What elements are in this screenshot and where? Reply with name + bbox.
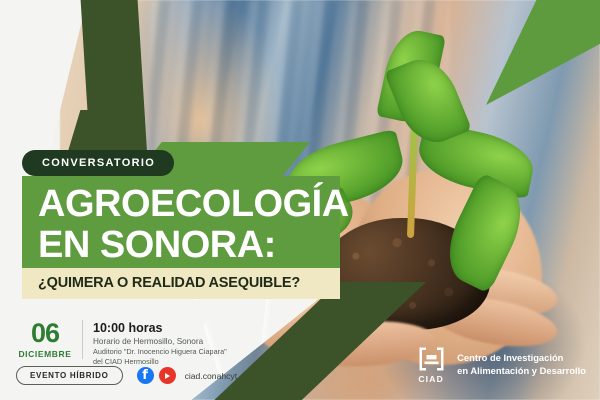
title-band: AGROECOLOGÍA EN SONORA: [22, 176, 340, 276]
page-title-line-2: EN SONORA: [38, 227, 326, 264]
ciad-logo: CIAD Centro de Investigación en Alimenta… [414, 346, 586, 384]
ciad-fullname-line-2: en Alimentación y Desarrollo [457, 365, 586, 378]
social-handle[interactable]: ciad.conahcyt [185, 371, 238, 381]
venue-line-1: Auditorio "Dr. Inocencio Higuera Ciapara… [93, 347, 227, 357]
event-month: DICIEMBRE [16, 349, 74, 359]
ciad-emblem-icon [418, 346, 445, 372]
event-day: 06 [16, 320, 74, 347]
green-wedge-top-right [486, 0, 600, 105]
subtitle-text: ¿QUIMERA O REALIDAD ASEQUIBLE? [38, 275, 326, 291]
event-time: 10:00 horas [93, 321, 227, 335]
facebook-icon[interactable]: f [137, 367, 154, 384]
time-venue-block: 10:00 horas Horario de Hermosillo, Sonor… [83, 320, 227, 367]
ciad-acronym: CIAD [414, 374, 448, 384]
event-info-row: 06 DICIEMBRE 10:00 horas Horario de Herm… [16, 320, 227, 367]
poster-canvas: CONVERSATORIO AGROECOLOGÍA EN SONORA: ¿Q… [0, 0, 600, 400]
event-format-badge: EVENTO HÍBRIDO [16, 366, 123, 385]
play-triangle-icon [165, 373, 170, 379]
date-block: 06 DICIEMBRE [16, 320, 83, 359]
event-timezone: Horario de Hermosillo, Sonora [93, 336, 227, 347]
ciad-fullname: Centro de Investigación en Alimentación … [457, 352, 586, 377]
youtube-icon[interactable] [159, 367, 176, 384]
kicker-badge: CONVERSATORIO [22, 150, 174, 176]
page-title-line-1: AGROECOLOGÍA [38, 186, 326, 223]
ciad-mark: CIAD [414, 346, 448, 384]
social-links: f ciad.conahcyt [137, 367, 238, 384]
bottom-row: EVENTO HÍBRIDO f ciad.conahcyt [16, 366, 237, 385]
subtitle-band: ¿QUIMERA O REALIDAD ASEQUIBLE? [22, 268, 340, 299]
ciad-fullname-line-1: Centro de Investigación [457, 352, 586, 365]
